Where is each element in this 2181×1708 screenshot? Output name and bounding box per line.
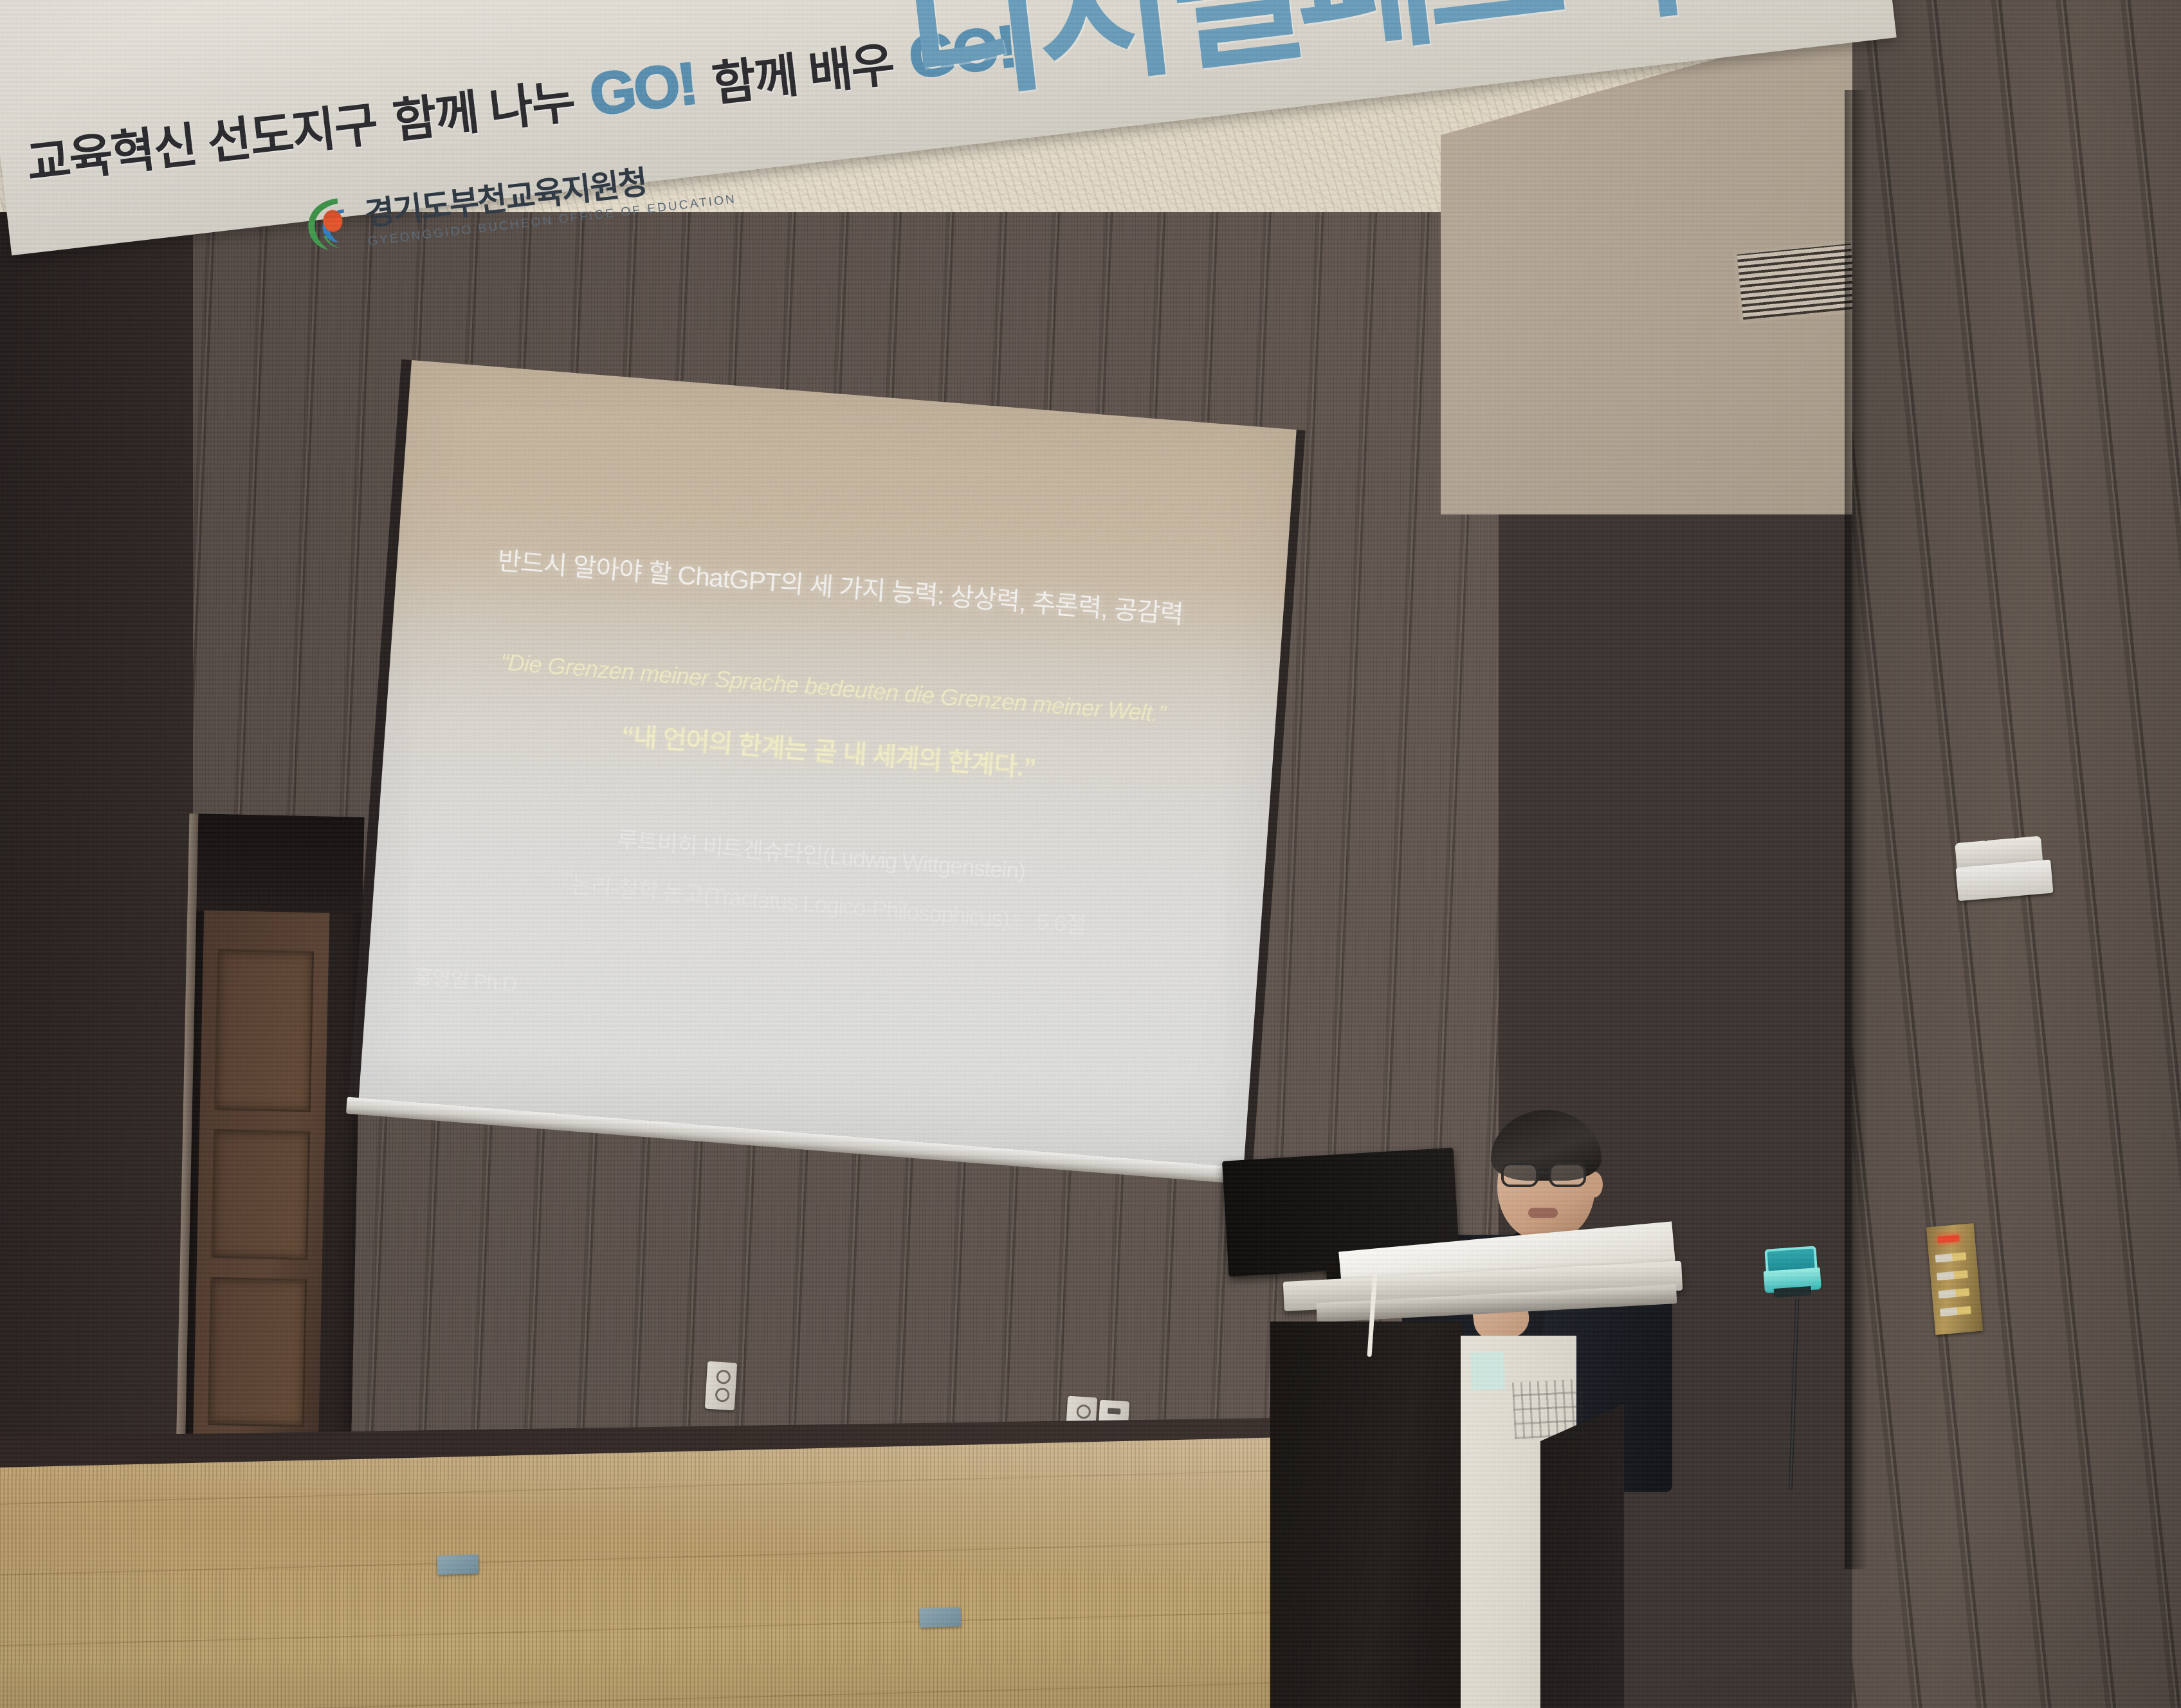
floor-port-right[interactable] <box>919 1607 961 1628</box>
floor-port-center[interactable] <box>437 1554 479 1575</box>
wall-corner-shadow <box>1845 90 1866 1569</box>
door-panel-middle <box>211 1129 310 1260</box>
back-wall-shadow-left <box>0 212 193 1498</box>
air-vent-icon <box>1733 240 1861 323</box>
teal-wall-device-icon[interactable] <box>1762 1246 1821 1300</box>
floor-reflection <box>0 1433 1479 1708</box>
speaker-mouth <box>1528 1208 1558 1218</box>
door-lintel <box>195 813 364 913</box>
teal-device-cable <box>1789 1298 1799 1491</box>
door-panel-upper <box>214 949 314 1112</box>
slide-title: 반드시 알아야 할 ChatGPT의 세 가지 능력: 상상력, 추론력, 공감… <box>397 532 1284 639</box>
slide-presenter-affiliation: 재미와의미연구소 대표 | 서울대 교육연구소 객원연구원 <box>411 994 804 1050</box>
podium-front-panel <box>1270 1322 1463 1708</box>
screen-surface: 반드시 알아야 할 ChatGPT의 세 가지 능력: 상상력, 추론력, 공감… <box>359 360 1297 1167</box>
panel-status-led <box>1937 1235 1960 1243</box>
door-leaf[interactable] <box>193 911 330 1460</box>
glasses-lens-right <box>1549 1163 1586 1187</box>
teal-device-base <box>1774 1286 1812 1298</box>
podium-side-shadow <box>1540 1404 1624 1708</box>
projection-screen: 반드시 알아야 할 ChatGPT의 세 가지 능력: 상상력, 추론력, 공감… <box>359 360 1297 1167</box>
podium-label-sticker <box>1470 1352 1505 1390</box>
glasses-icon <box>1499 1163 1596 1188</box>
slide-presenter-name: 홍영일 Ph.D <box>413 960 518 997</box>
glasses-bridge <box>1538 1172 1550 1174</box>
panel-button-1[interactable] <box>1935 1252 1967 1262</box>
lecture-hall-photo: 반드시 알아야 할 ChatGPT의 세 가지 능력: 상상력, 추론력, 공감… <box>0 0 2181 1708</box>
floor <box>0 1433 1479 1708</box>
glasses-lens-left <box>1501 1163 1538 1187</box>
emergency-light-icon <box>1952 822 2053 901</box>
podium-printed-text <box>1512 1379 1585 1439</box>
panel-button-3[interactable] <box>1938 1288 1969 1298</box>
panel-button-2[interactable] <box>1937 1270 1968 1280</box>
wall-outlet-left[interactable] <box>705 1361 737 1411</box>
slide-content: 반드시 알아야 할 ChatGPT의 세 가지 능력: 상상력, 추론력, 공감… <box>359 360 1297 1167</box>
podium <box>1270 1322 1630 1708</box>
panel-button-4[interactable] <box>1940 1306 1971 1316</box>
wall-control-panel[interactable] <box>1926 1223 1983 1335</box>
door-panel-lower <box>208 1277 307 1427</box>
door[interactable] <box>184 813 365 1460</box>
